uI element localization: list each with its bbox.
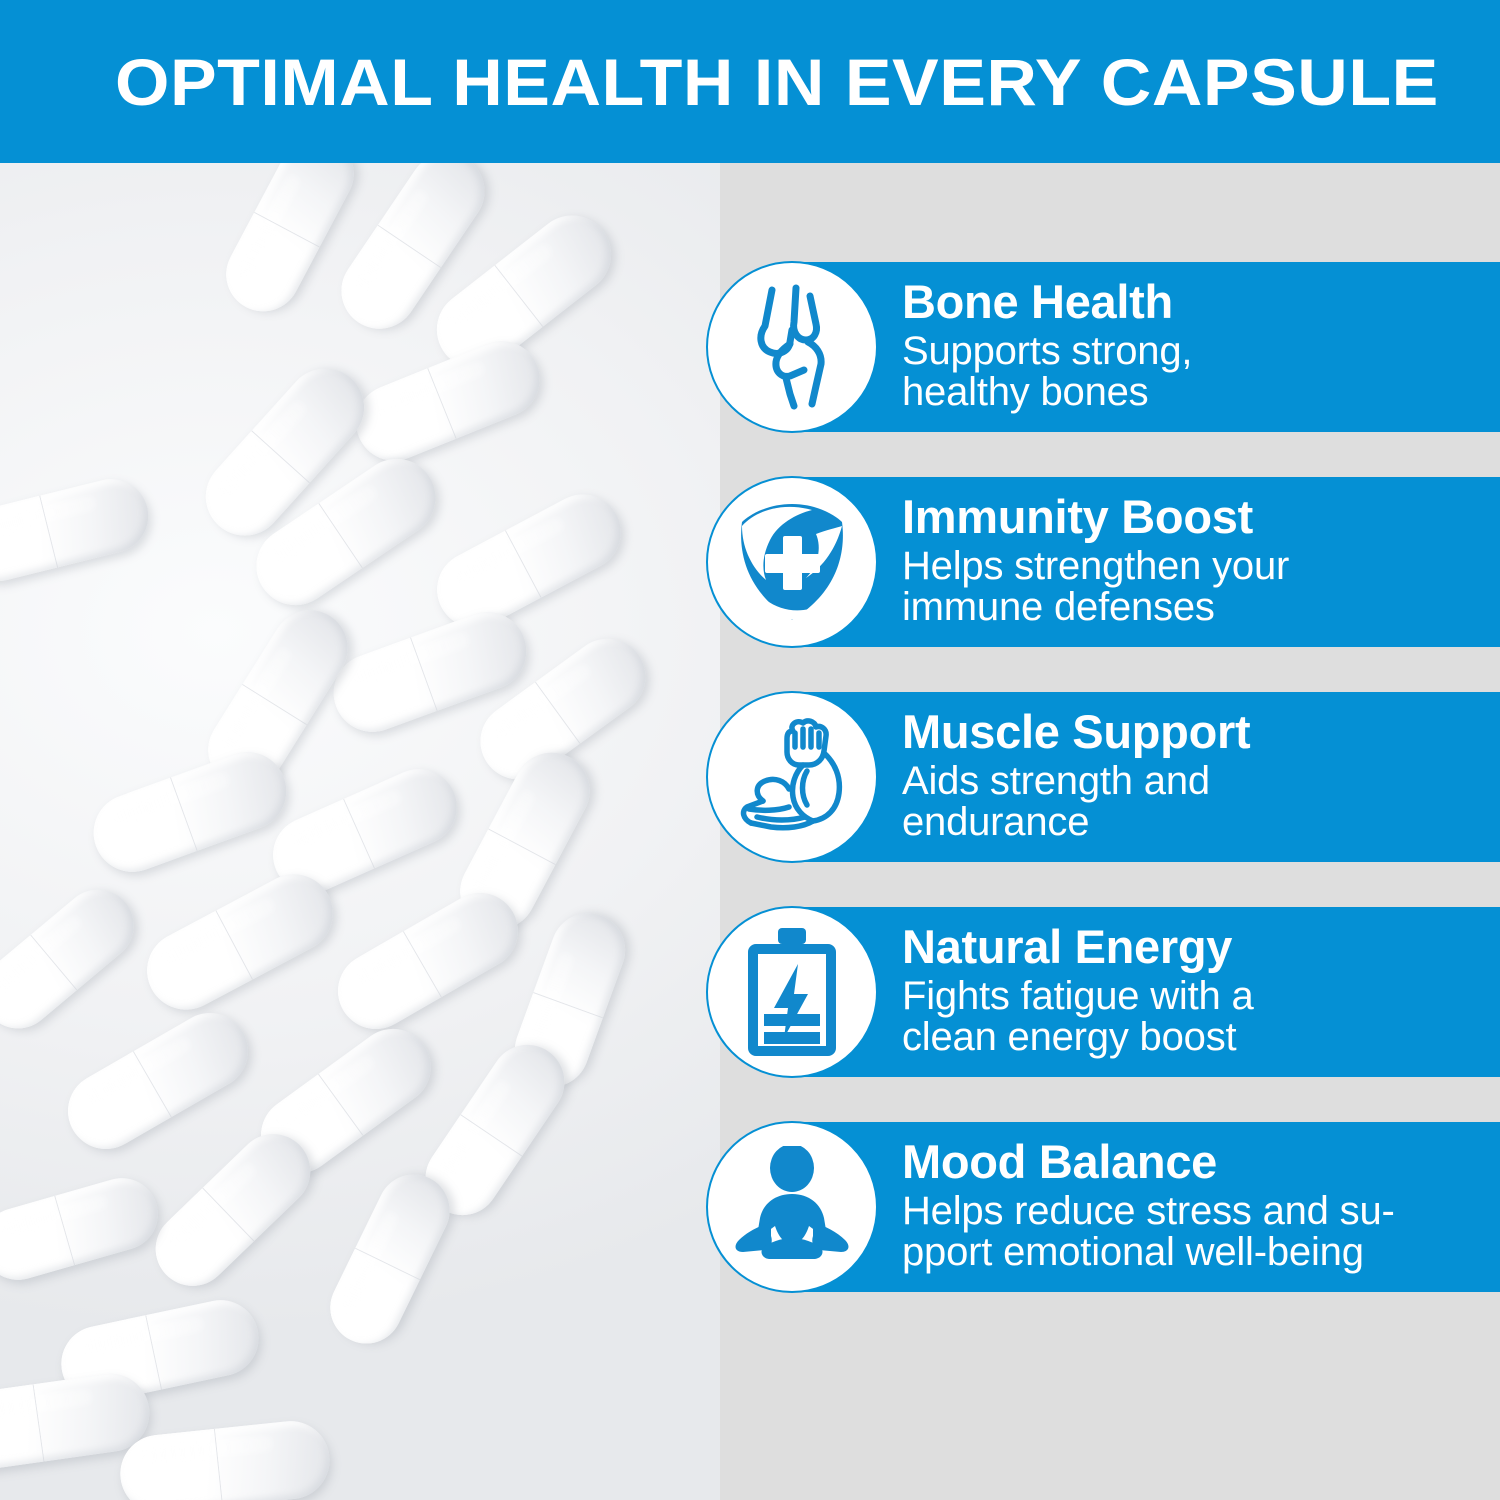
capsule <box>140 1119 325 1301</box>
feature-desc-line2: healthy bones <box>902 372 1192 413</box>
battery-bolt-icon <box>706 906 878 1078</box>
feature-title: Muscle Support <box>902 708 1250 755</box>
feature-title: Immunity Boost <box>902 493 1289 540</box>
feature-desc-line1: Helps strengthen your <box>902 546 1289 587</box>
feature-title: Natural Energy <box>902 923 1254 970</box>
feature-description: Supports strong, healthy bones <box>902 331 1192 413</box>
feature-desc-line2: endurance <box>902 802 1250 843</box>
capsule-product-photo <box>0 163 720 1500</box>
feature-desc-line1: Fights fatigue with a <box>902 976 1254 1017</box>
flexed-bicep-icon <box>706 691 878 863</box>
capsule <box>318 1162 462 1355</box>
feature-text-immunity-boost: Immunity Boost Helps strengthen your imm… <box>902 493 1289 632</box>
feature-description: Helps strengthen your immune defenses <box>902 546 1289 628</box>
feature-desc-line1: Helps reduce stress and su- <box>902 1191 1395 1232</box>
page-title: OPTIMAL HEALTH IN EVERY CAPSULE <box>115 49 1439 115</box>
feature-desc-line1: Supports strong, <box>902 331 1192 372</box>
feature-row-muscle-support[interactable]: Muscle Support Aids strength and enduran… <box>712 692 1500 862</box>
capsule <box>83 741 298 883</box>
feature-title: Mood Balance <box>902 1138 1395 1185</box>
feature-desc-line1: Aids strength and <box>902 761 1250 802</box>
feature-description: Aids strength and endurance <box>902 761 1250 843</box>
feature-row-immunity-boost[interactable]: Immunity Boost Helps strengthen your imm… <box>712 477 1500 647</box>
feature-text-mood-balance: Mood Balance Helps reduce stress and su-… <box>902 1138 1395 1277</box>
feature-desc-line2: pport emotional well-being <box>902 1232 1395 1273</box>
capsule <box>0 471 156 589</box>
feature-row-natural-energy[interactable]: Natural Energy Fights fatigue with a cle… <box>712 907 1500 1077</box>
capsule <box>133 861 346 1024</box>
capsule-cluster <box>0 163 720 1500</box>
meditating-person-icon <box>706 1121 878 1293</box>
header-banner: OPTIMAL HEALTH IN EVERY CAPSULE <box>0 0 1500 163</box>
bone-joint-icon <box>706 261 878 433</box>
feature-title: Bone Health <box>902 278 1192 325</box>
feature-row-mood-balance[interactable]: Mood Balance Helps reduce stress and su-… <box>712 1122 1500 1292</box>
capsule <box>0 875 149 1043</box>
feature-row-bone-health[interactable]: Bone Health Supports strong, healthy bon… <box>712 262 1500 432</box>
feature-text-natural-energy: Natural Energy Fights fatigue with a cle… <box>902 923 1254 1062</box>
capsule <box>54 999 262 1163</box>
shield-cross-icon <box>706 476 878 648</box>
feature-text-muscle-support: Muscle Support Aids strength and enduran… <box>902 708 1250 847</box>
feature-list: Bone Health Supports strong, healthy bon… <box>712 262 1500 1337</box>
feature-text-bone-health: Bone Health Supports strong, healthy bon… <box>902 278 1192 417</box>
capsule <box>424 481 635 641</box>
feature-description: Fights fatigue with a clean energy boost <box>902 976 1254 1058</box>
capsule <box>116 1417 333 1500</box>
capsule <box>324 879 532 1043</box>
feature-desc-line2: immune defenses <box>902 587 1289 628</box>
feature-description: Helps reduce stress and su- pport emotio… <box>902 1191 1395 1273</box>
capsule <box>0 1170 166 1289</box>
feature-desc-line2: clean energy boost <box>902 1017 1254 1058</box>
